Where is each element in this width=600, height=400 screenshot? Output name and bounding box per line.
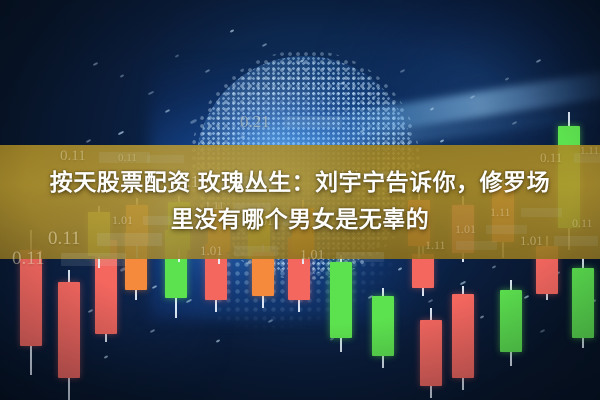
banner-image: 0.110.110.110.211.111.011.010.110.111.01… bbox=[0, 0, 600, 400]
title-line-1: 按天股票配资 玫瑰丛生：刘宇宁告诉你，修罗场 bbox=[0, 164, 600, 201]
page-title: 按天股票配资 玫瑰丛生：刘宇宁告诉你，修罗场 里没有哪个男女是无辜的 bbox=[0, 164, 600, 238]
title-line-2: 里没有哪个男女是无辜的 bbox=[0, 201, 600, 238]
